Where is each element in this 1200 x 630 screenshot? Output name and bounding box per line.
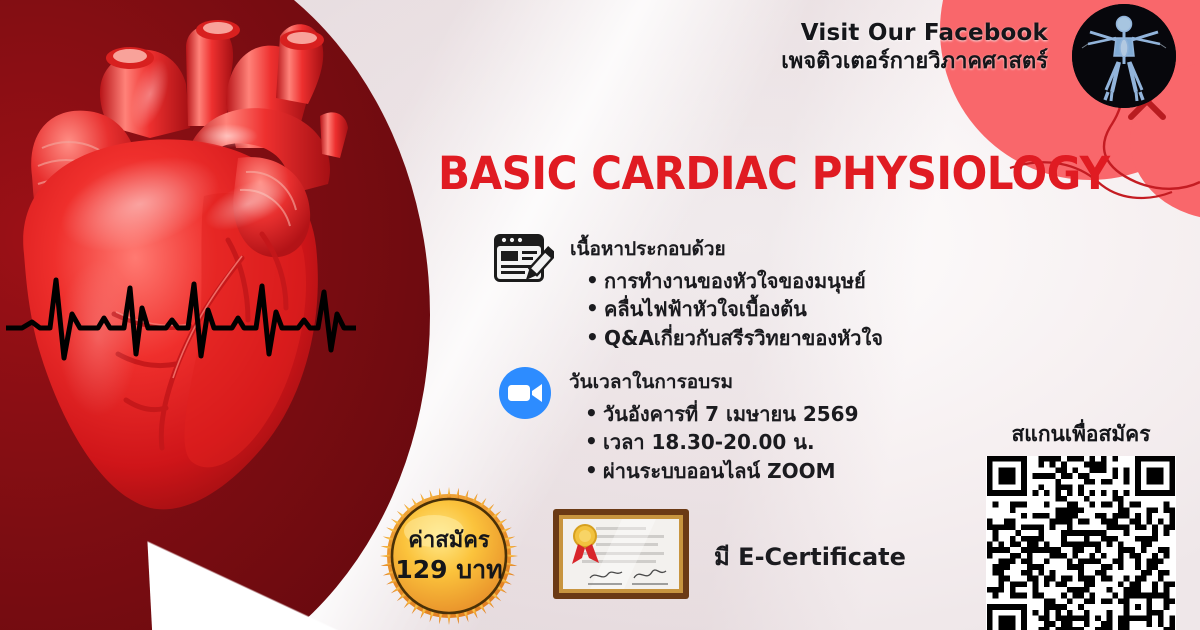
- page-title: BASIC CARDIAC PHYSIOLOGY: [438, 147, 1200, 200]
- facebook-callout[interactable]: Visit Our Facebook เพจติวเตอร์กายวิภาคศา…: [781, 20, 1048, 75]
- vitruvian-man-anatomy-icon: [1072, 4, 1176, 108]
- list-item: การทำงานของหัวใจของมนุษย์: [586, 267, 883, 295]
- content-heading: เนื้อหาประกอบด้วย: [570, 234, 883, 264]
- poster-canvas: Visit Our Facebook เพจติวเตอร์กายวิภาคศา…: [0, 0, 1200, 630]
- content-list: การทำงานของหัวใจของมนุษย์ คลื่นไฟฟ้าหัวใ…: [570, 267, 883, 352]
- list-item: คลื่นไฟฟ้าหัวใจเบื้องต้น: [586, 295, 883, 323]
- price-amount: 129 บาท: [395, 555, 502, 585]
- certificate-block: มี E-Certificate: [552, 508, 906, 604]
- list-item: วันอังคารที่ 7 เมษายน 2569: [585, 400, 859, 428]
- certificate-icon: [552, 508, 690, 604]
- list-item: ผ่านระบบออนไลน์ ZOOM: [585, 457, 859, 485]
- list-item: เวลา 18.30-20.00 น.: [585, 428, 859, 456]
- schedule-heading: วันเวลาในการอบรม: [569, 367, 859, 397]
- list-item: Q&Aเกี่ยวกับสรีรวิทยาของหัวใจ: [586, 324, 883, 352]
- schedule-section: วันเวลาในการอบรม วันอังคารที่ 7 เมษายน 2…: [497, 365, 859, 485]
- price-badge: ค่าสมัคร 129 บาท: [378, 485, 520, 627]
- video-camera-icon: [497, 365, 553, 421]
- facebook-en-label: Visit Our Facebook: [781, 20, 1048, 47]
- certificate-label: มี E-Certificate: [714, 537, 906, 576]
- ecg-waveform-icon: [6, 262, 356, 372]
- qr-code-icon[interactable]: [986, 456, 1176, 630]
- price-label: ค่าสมัคร: [408, 528, 490, 554]
- facebook-th-label: เพจติวเตอร์กายวิภาคศาสตร์: [781, 49, 1048, 75]
- qr-label: สแกนเพื่อสมัคร: [975, 418, 1187, 451]
- content-section: เนื้อหาประกอบด้วย การทำงานของหัวใจของมนุ…: [492, 232, 883, 352]
- schedule-list: วันอังคารที่ 7 เมษายน 2569 เวลา 18.30-20…: [569, 400, 859, 485]
- document-edit-icon: [492, 232, 554, 290]
- qr-block: สแกนเพื่อสมัคร: [975, 418, 1187, 630]
